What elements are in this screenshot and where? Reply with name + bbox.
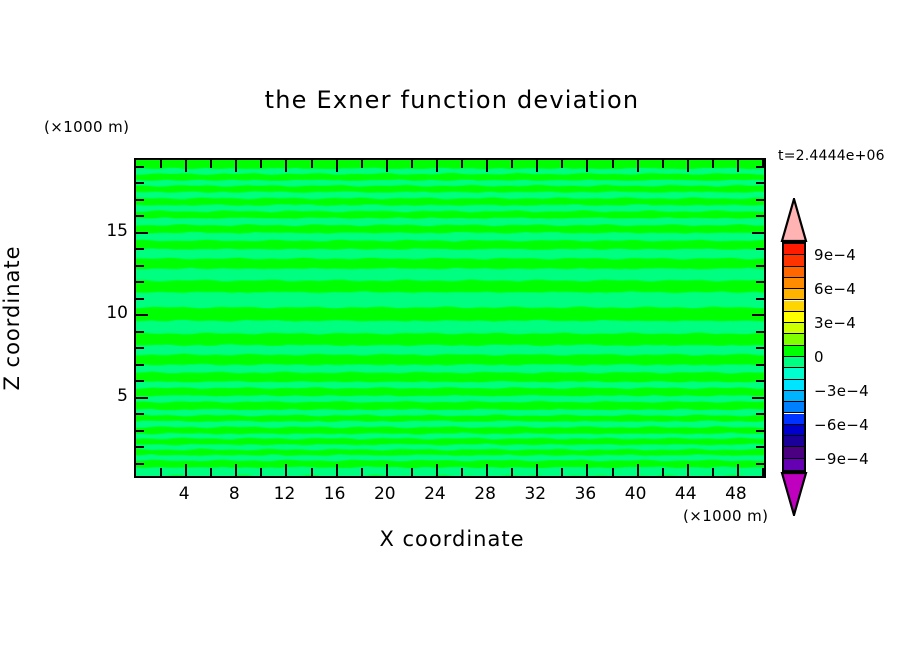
axis-tick bbox=[756, 430, 764, 432]
colorbar[interactable] bbox=[780, 198, 808, 516]
colorbar-band bbox=[784, 391, 804, 402]
axis-tick bbox=[756, 446, 764, 448]
axis-tick bbox=[712, 468, 714, 476]
axis-tick bbox=[756, 182, 764, 184]
axis-tick bbox=[336, 160, 338, 172]
axis-tick bbox=[136, 215, 144, 217]
axis-tick bbox=[136, 397, 148, 399]
colorbar-band bbox=[784, 255, 804, 266]
axis-tick bbox=[637, 160, 639, 172]
axis-tick bbox=[136, 347, 144, 349]
axis-tick bbox=[136, 298, 144, 300]
axis-tick bbox=[756, 166, 764, 168]
colorbar-bands bbox=[782, 242, 806, 472]
colorbar-overflow-arrow-top bbox=[780, 198, 808, 242]
axis-tick bbox=[752, 232, 764, 234]
colorbar-band bbox=[784, 312, 804, 323]
axis-tick bbox=[762, 468, 764, 476]
axis-tick bbox=[136, 331, 144, 333]
x-tick-label: 8 bbox=[229, 484, 240, 504]
axis-tick bbox=[136, 446, 144, 448]
x-tick-label: 20 bbox=[374, 484, 396, 504]
colorbar-label: −6e−4 bbox=[814, 416, 869, 434]
colorbar-band bbox=[784, 425, 804, 436]
x-axis-title: X coordinate bbox=[0, 527, 904, 551]
axis-tick bbox=[486, 464, 488, 476]
colorbar-band bbox=[784, 244, 804, 255]
colorbar-band bbox=[784, 380, 804, 391]
axis-tick bbox=[235, 464, 237, 476]
axis-tick bbox=[461, 468, 463, 476]
colorbar-band bbox=[784, 289, 804, 300]
colorbar-band bbox=[784, 334, 804, 345]
axis-tick bbox=[756, 364, 764, 366]
axis-tick bbox=[311, 160, 313, 168]
timestamp-annotation: t=2.4444e+06 bbox=[778, 148, 885, 164]
axis-tick bbox=[737, 464, 739, 476]
axis-tick bbox=[285, 160, 287, 172]
y-tick-label: 5 bbox=[117, 386, 128, 406]
axis-tick bbox=[260, 160, 262, 168]
axis-tick bbox=[411, 160, 413, 168]
y-tick-label: 15 bbox=[106, 221, 128, 241]
axis-tick bbox=[756, 298, 764, 300]
axis-tick bbox=[386, 464, 388, 476]
x-tick-label: 40 bbox=[625, 484, 647, 504]
colorbar-band bbox=[784, 447, 804, 458]
y-axis-title: Z coordinate bbox=[0, 245, 24, 390]
axis-tick bbox=[160, 160, 162, 168]
x-tick-label: 24 bbox=[424, 484, 446, 504]
axis-tick bbox=[712, 160, 714, 168]
x-tick-label: 32 bbox=[524, 484, 546, 504]
y-axis-unit-label: (×1000 m) bbox=[44, 118, 129, 136]
colorbar-band bbox=[784, 436, 804, 447]
colorbar-label: 6e−4 bbox=[814, 280, 856, 298]
axis-tick bbox=[136, 166, 144, 168]
axis-tick bbox=[756, 463, 764, 465]
axis-tick bbox=[436, 160, 438, 172]
page-title: the Exner function deviation bbox=[0, 86, 904, 114]
axis-tick bbox=[210, 468, 212, 476]
axis-tick bbox=[136, 199, 144, 201]
axis-tick bbox=[136, 380, 144, 382]
axis-tick bbox=[561, 468, 563, 476]
axis-tick bbox=[586, 160, 588, 172]
axis-tick bbox=[737, 160, 739, 172]
x-tick-label: 36 bbox=[575, 484, 597, 504]
colorbar-band bbox=[784, 414, 804, 425]
x-tick-label: 44 bbox=[675, 484, 697, 504]
axis-tick bbox=[235, 160, 237, 172]
axis-tick bbox=[756, 331, 764, 333]
axis-tick bbox=[752, 314, 764, 316]
plot-area[interactable] bbox=[134, 158, 766, 478]
axis-tick bbox=[260, 468, 262, 476]
colorbar-band bbox=[784, 346, 804, 357]
axis-tick bbox=[185, 464, 187, 476]
colorbar-label: 9e−4 bbox=[814, 246, 856, 264]
axis-tick bbox=[486, 160, 488, 172]
x-tick-label: 48 bbox=[725, 484, 747, 504]
axis-tick bbox=[461, 160, 463, 168]
axis-tick bbox=[336, 464, 338, 476]
axis-tick bbox=[210, 160, 212, 168]
x-axis-unit-label: (×1000 m) bbox=[683, 507, 768, 525]
axis-tick bbox=[756, 413, 764, 415]
axis-tick bbox=[687, 160, 689, 172]
axis-tick bbox=[756, 215, 764, 217]
axis-tick bbox=[436, 464, 438, 476]
colorbar-band bbox=[784, 459, 804, 470]
axis-tick bbox=[756, 265, 764, 267]
axis-tick bbox=[756, 380, 764, 382]
axis-tick bbox=[536, 464, 538, 476]
axis-tick bbox=[386, 160, 388, 172]
axis-tick bbox=[511, 160, 513, 168]
axis-tick bbox=[756, 281, 764, 283]
x-tick-label: 12 bbox=[274, 484, 296, 504]
axis-tick bbox=[136, 314, 148, 316]
axis-tick bbox=[136, 413, 144, 415]
axis-tick bbox=[662, 160, 664, 168]
axis-tick bbox=[536, 160, 538, 172]
axis-tick bbox=[411, 468, 413, 476]
axis-tick bbox=[756, 347, 764, 349]
colorbar-label: 0 bbox=[814, 348, 824, 366]
colorbar-band bbox=[784, 267, 804, 278]
axis-tick bbox=[136, 248, 144, 250]
axis-tick bbox=[136, 463, 144, 465]
axis-tick bbox=[637, 464, 639, 476]
colorbar-band bbox=[784, 301, 804, 312]
colorbar-band bbox=[784, 402, 804, 413]
axis-tick bbox=[511, 468, 513, 476]
contour-plot-figure: the Exner function deviation (×1000 m) t… bbox=[0, 0, 904, 654]
axis-tick bbox=[136, 364, 144, 366]
axis-tick bbox=[311, 468, 313, 476]
axis-tick bbox=[185, 160, 187, 172]
axis-tick bbox=[687, 464, 689, 476]
colorbar-band bbox=[784, 278, 804, 289]
y-tick-label: 10 bbox=[106, 303, 128, 323]
axis-tick bbox=[136, 232, 148, 234]
colorbar-band bbox=[784, 357, 804, 368]
axis-tick bbox=[136, 182, 144, 184]
axis-tick bbox=[612, 468, 614, 476]
axis-tick bbox=[756, 199, 764, 201]
axis-tick bbox=[361, 160, 363, 168]
colorbar-label: −9e−4 bbox=[814, 450, 869, 468]
axis-tick bbox=[136, 281, 144, 283]
contour-field-canvas bbox=[136, 160, 764, 476]
axis-tick bbox=[285, 464, 287, 476]
axis-tick bbox=[756, 248, 764, 250]
axis-tick bbox=[662, 468, 664, 476]
axis-tick bbox=[752, 397, 764, 399]
colorbar-band bbox=[784, 368, 804, 379]
axis-tick bbox=[361, 468, 363, 476]
colorbar-overflow-arrow-bottom bbox=[780, 472, 808, 516]
axis-tick bbox=[586, 464, 588, 476]
axis-tick bbox=[160, 468, 162, 476]
axis-tick bbox=[136, 430, 144, 432]
x-tick-label: 28 bbox=[474, 484, 496, 504]
x-tick-label: 4 bbox=[179, 484, 190, 504]
axis-tick bbox=[561, 160, 563, 168]
colorbar-band bbox=[784, 323, 804, 334]
colorbar-label: −3e−4 bbox=[814, 382, 869, 400]
axis-tick bbox=[136, 265, 144, 267]
colorbar-label: 3e−4 bbox=[814, 314, 856, 332]
x-tick-label: 16 bbox=[324, 484, 346, 504]
axis-tick bbox=[612, 160, 614, 168]
